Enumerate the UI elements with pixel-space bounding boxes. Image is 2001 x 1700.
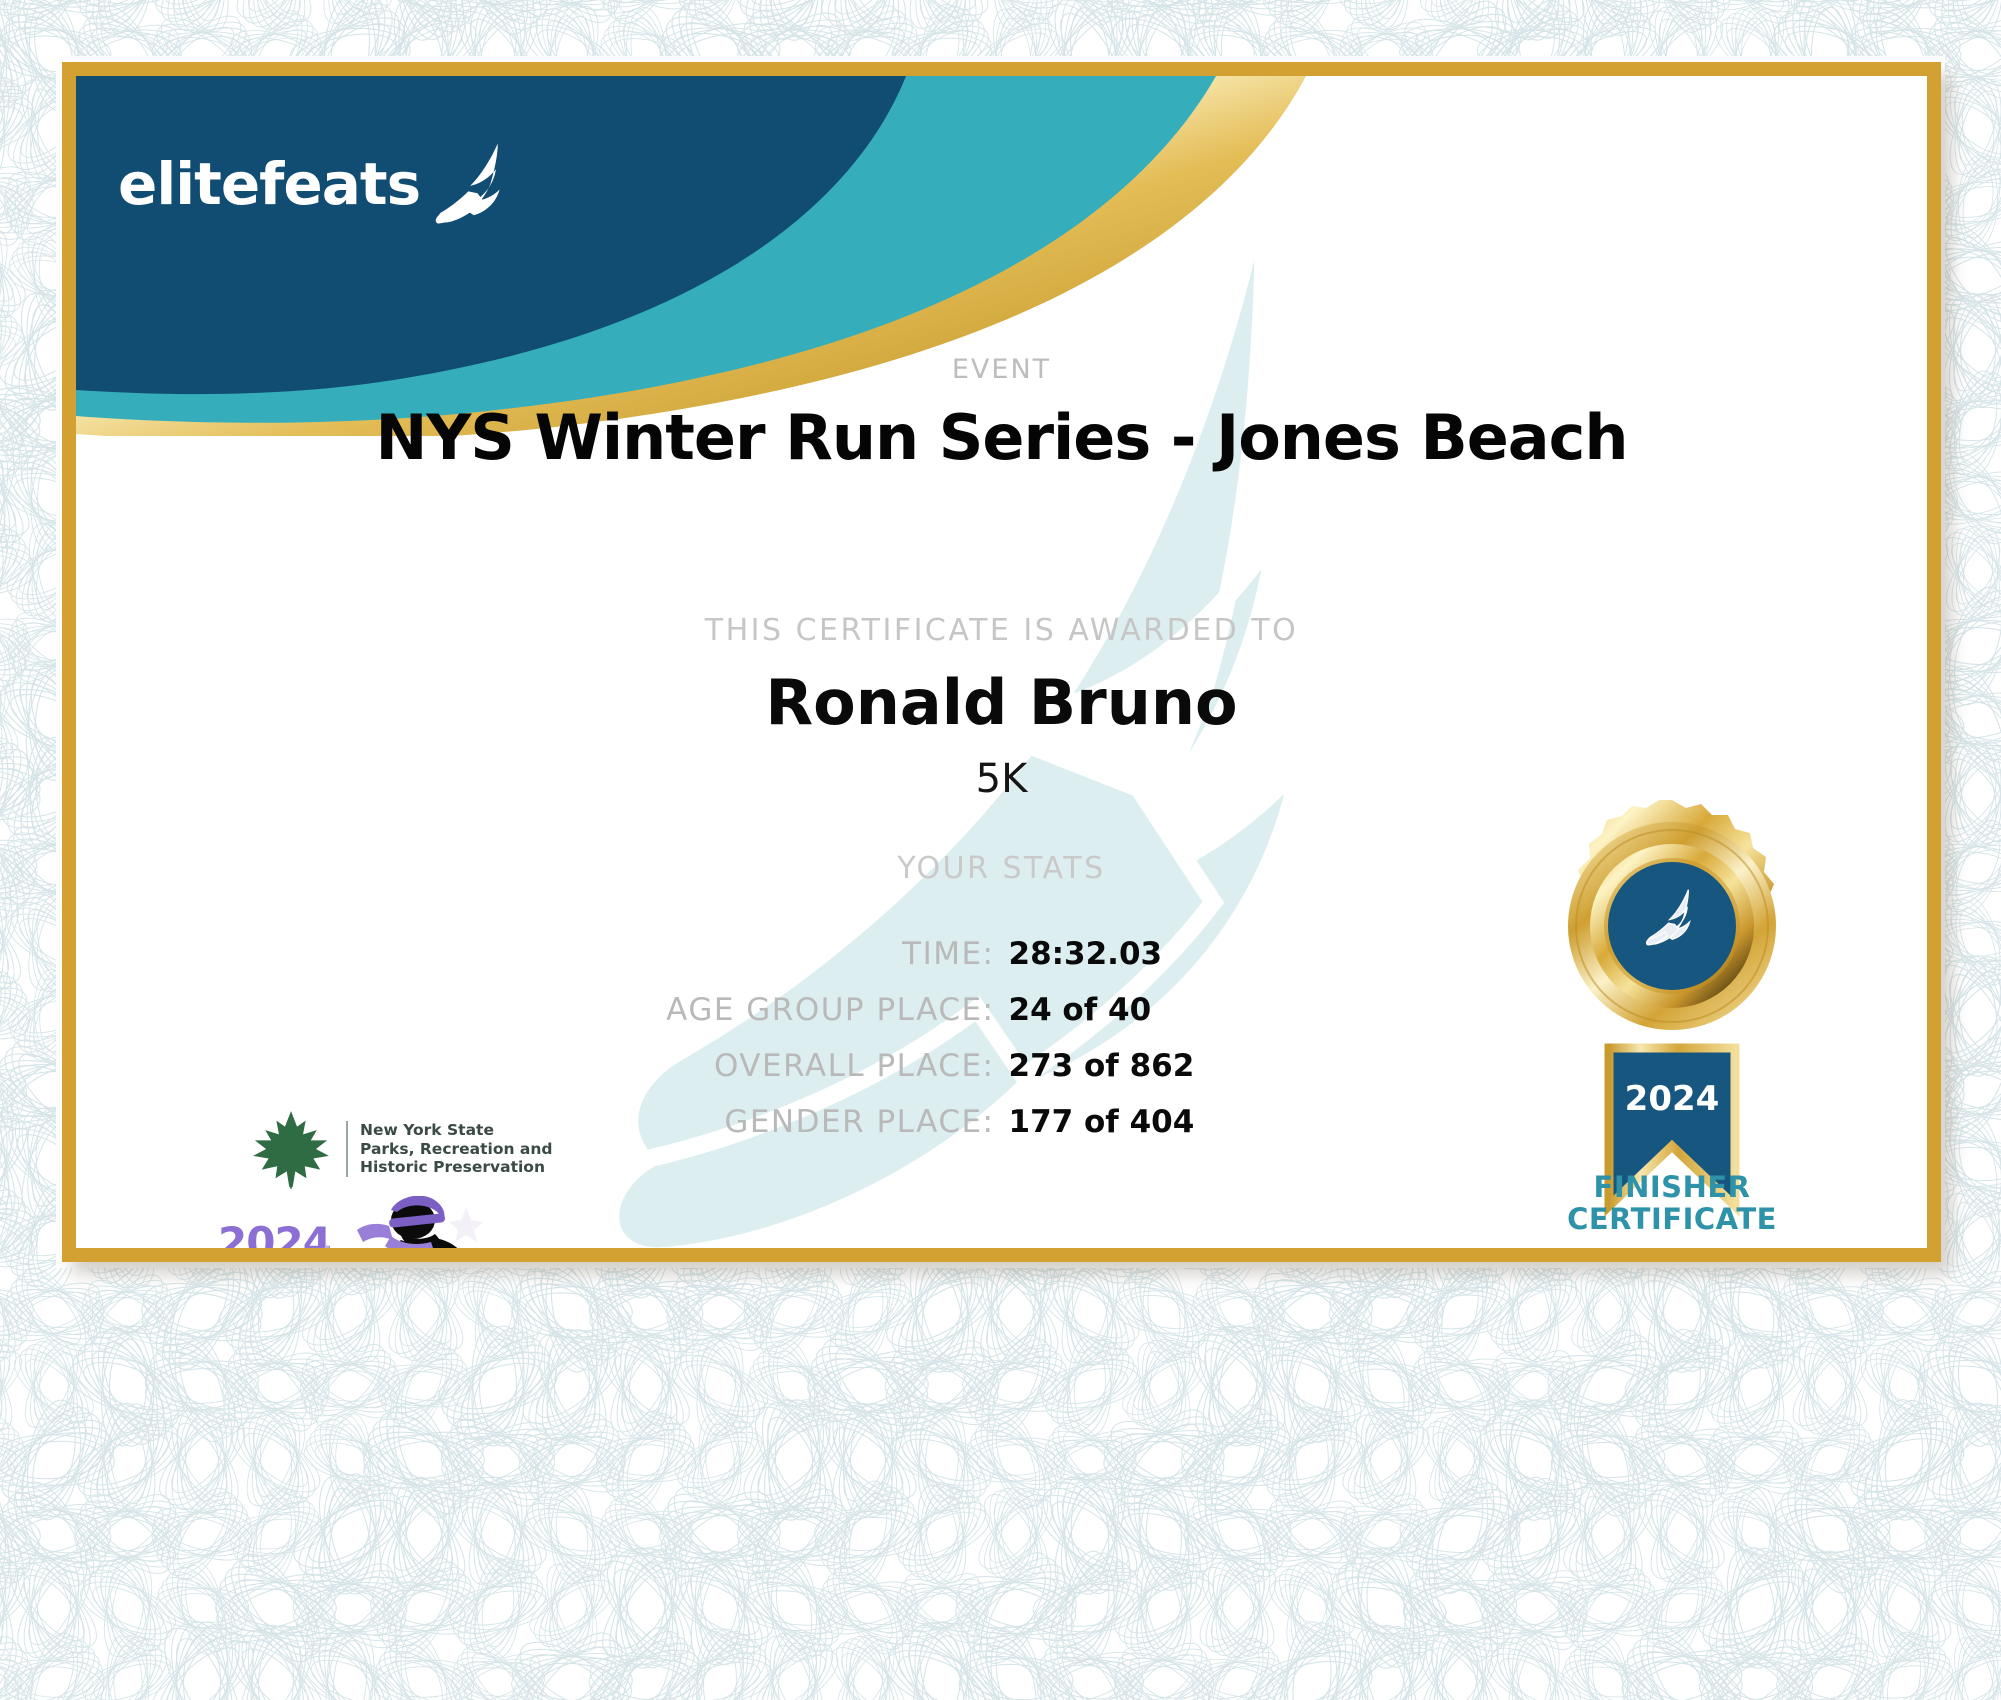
runner-silhouette-icon (301, 1196, 511, 1248)
maple-leaf-icon (248, 1106, 334, 1192)
stat-key: AGE GROUP PLACE: (395, 992, 995, 1028)
stat-key: TIME: (395, 936, 995, 972)
certificate-page: elitefeats EVENT (0, 0, 2001, 1700)
certificate-body: EVENT NYS Winter Run Series - Jones Beac… (76, 76, 1927, 1248)
stat-key: OVERALL PLACE: (395, 1048, 995, 1084)
stat-value: 177 of 404 (995, 1104, 1609, 1140)
certificate-card: elitefeats EVENT (62, 62, 1941, 1262)
race-distance: 5K (76, 756, 1927, 802)
winter-run-series-logo: 2024 (206, 1196, 536, 1248)
nys-parks-line3: Historic Preservation (360, 1158, 553, 1177)
finisher-caption-line2: CERTIFICATE (1537, 1203, 1807, 1235)
finisher-caption-line1: FINISHER (1537, 1171, 1807, 1203)
nys-parks-line1: New York State (360, 1121, 553, 1140)
event-label: EVENT (76, 354, 1927, 385)
stat-value: 24 of 40 (995, 992, 1609, 1028)
recipient-name: Ronald Bruno (76, 666, 1927, 739)
nys-parks-text: New York State Parks, Recreation and His… (346, 1121, 553, 1178)
stat-value: 28:32.03 (995, 936, 1609, 972)
nys-parks-line2: Parks, Recreation and (360, 1140, 553, 1159)
nys-parks-logo: New York State Parks, Recreation and His… (248, 1104, 568, 1194)
event-name: NYS Winter Run Series - Jones Beach (76, 401, 1927, 474)
finisher-caption: FINISHER CERTIFICATE (1537, 1171, 1807, 1236)
badge-year: 2024 (1625, 1079, 1720, 1119)
awarded-to-label: THIS CERTIFICATE IS AWARDED TO (76, 613, 1927, 648)
stat-value: 273 of 862 (995, 1048, 1609, 1084)
